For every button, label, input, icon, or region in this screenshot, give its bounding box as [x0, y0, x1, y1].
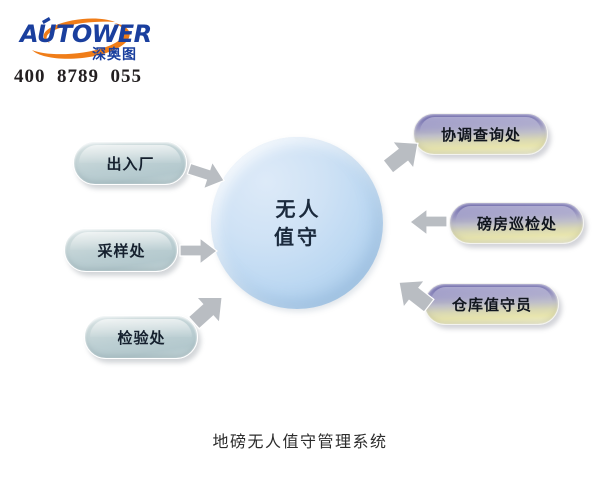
diagram-canvas: AUTOWER 深奥图 400 8789 055 无人 值守 出入厂 采样处 检… [0, 0, 600, 480]
node-bangfangxunjianchu-label: 磅房巡检处 [476, 213, 557, 234]
svg-text:深奥图: 深奥图 [92, 46, 137, 63]
node-jianyanchu-label: 检验处 [116, 327, 165, 348]
svg-text:AUTOWER: AUTOWER [18, 20, 152, 48]
node-caiyangchu[interactable]: 采样处 [64, 228, 178, 272]
node-caiyangchu-label: 采样处 [96, 240, 145, 261]
diagram-caption: 地磅无人值守管理系统 [0, 428, 600, 452]
brand-logo: AUTOWER 深奥图 [14, 12, 174, 64]
center-node-unattended: 无人 值守 [211, 137, 383, 309]
center-node-label: 无人 值守 [273, 195, 322, 252]
node-jianyanchu[interactable]: 检验处 [84, 315, 198, 359]
autower-logo-icon: AUTOWER 深奥图 [14, 12, 174, 64]
contact-phone-number: 400 8789 055 [14, 66, 142, 88]
node-xietiaochaxunchu-label: 协调查询处 [440, 124, 521, 145]
node-cangkuzhishouyuan-label: 仓库值守员 [451, 294, 532, 315]
arrow-to-bangfangxunjianchu-icon [405, 207, 449, 237]
node-xietiaochaxunchu[interactable]: 协调查询处 [413, 113, 548, 155]
node-cangkuzhishouyuan[interactable]: 仓库值守员 [424, 283, 559, 325]
node-churuchang[interactable]: 出入厂 [73, 141, 187, 185]
node-churuchang-label: 出入厂 [105, 153, 154, 174]
node-bangfangxunjianchu[interactable]: 磅房巡检处 [449, 202, 584, 244]
